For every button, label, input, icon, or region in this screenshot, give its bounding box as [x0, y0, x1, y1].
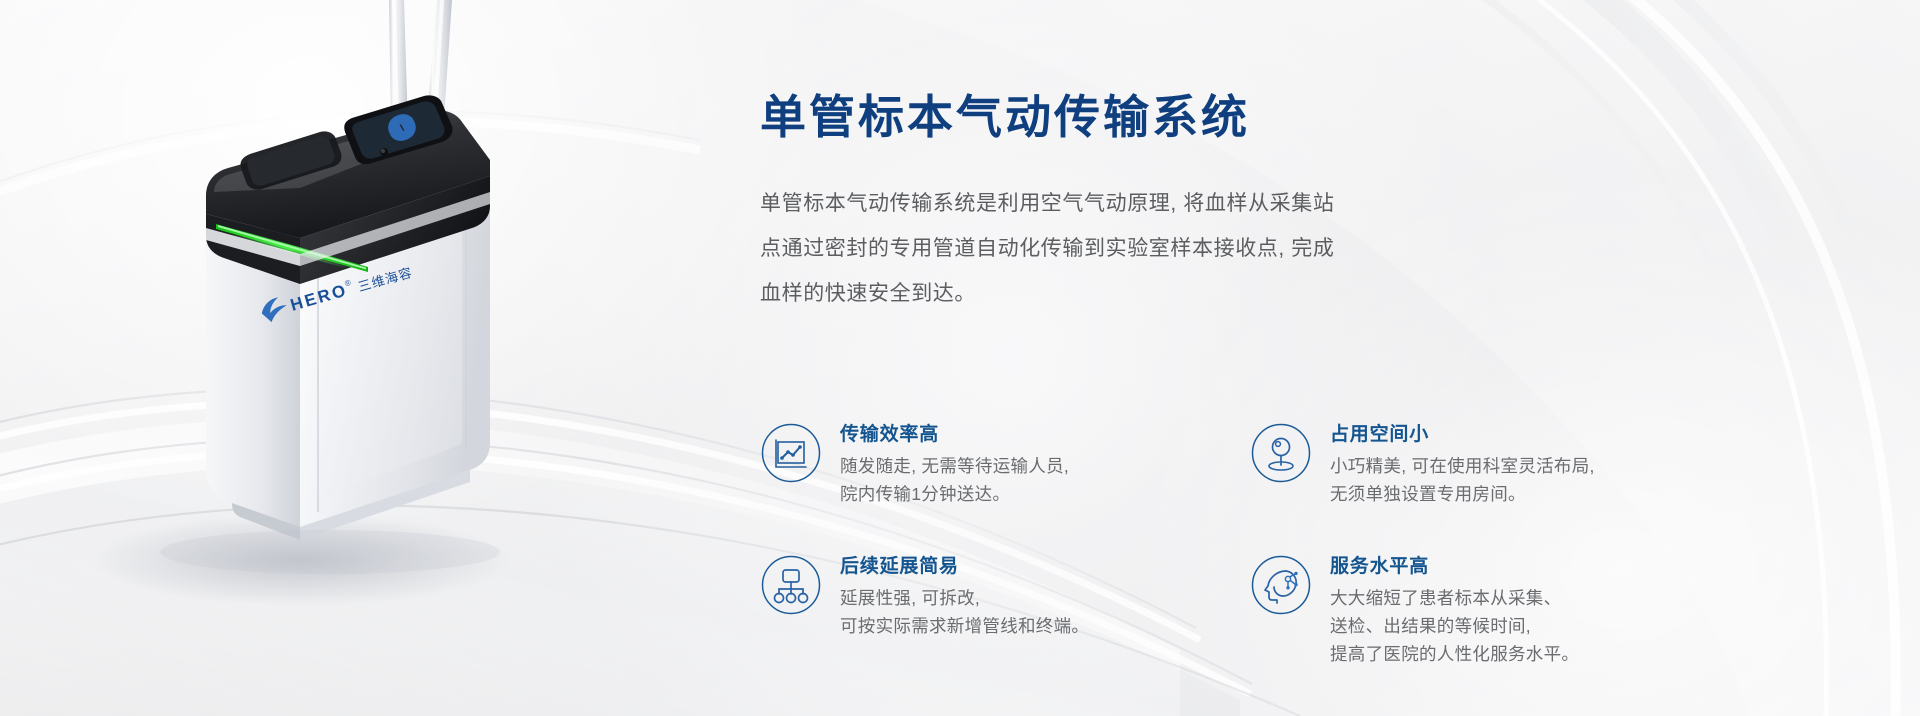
hero-copy-block: 单管标本气动传输系统 单管标本气动传输系统是利用空气气动原理, 将血样从采集站 …: [760, 92, 1760, 316]
feature-item-easy-expansion: 后续延展简易 延展性强, 可拆改, 可按实际需求新增管线和终端。: [760, 552, 1160, 640]
feature-desc-line: 大大缩短了患者标本从采集、: [1330, 584, 1579, 612]
smart-head-icon: [1250, 554, 1312, 616]
feature-item-transfer-efficiency: 传输效率高 随发随走, 无需等待运输人员, 院内传输1分钟送达。: [760, 420, 1160, 508]
product-device-illustration: HERO ® 三维海容: [0, 0, 600, 716]
feature-description: 小巧精美, 可在使用科室灵活布局, 无须单独设置专用房间。: [1330, 452, 1595, 509]
page-title: 单管标本气动传输系统: [760, 92, 1760, 143]
feature-desc-line: 送检、出结果的等候时间,: [1330, 612, 1579, 640]
description-line-3: 血样的快速安全到达。: [760, 271, 1420, 316]
feature-desc-line: 提高了医院的人性化服务水平。: [1330, 640, 1579, 668]
description-line-2: 点通过密封的专用管道自动化传输到实验室样本接收点, 完成: [760, 226, 1420, 271]
space-pin-icon: [1250, 422, 1312, 484]
feature-desc-line: 随发随走, 无需等待运输人员,: [840, 452, 1069, 480]
feature-text: 传输效率高 随发随走, 无需等待运输人员, 院内传输1分钟送达。: [840, 420, 1069, 508]
feature-text: 服务水平高 大大缩短了患者标本从采集、 送检、出结果的等候时间, 提高了医院的人…: [1330, 552, 1579, 669]
feature-item-service-level: 服务水平高 大大缩短了患者标本从采集、 送检、出结果的等候时间, 提高了医院的人…: [1250, 552, 1650, 669]
feature-desc-line: 院内传输1分钟送达。: [840, 480, 1069, 508]
feature-desc-line: 无须单独设置专用房间。: [1330, 480, 1595, 508]
feature-title: 传输效率高: [840, 421, 1069, 449]
feature-description: 随发随走, 无需等待运输人员, 院内传输1分钟送达。: [840, 452, 1069, 509]
feature-desc-line: 可按实际需求新增管线和终端。: [840, 612, 1089, 640]
feature-description: 大大缩短了患者标本从采集、 送检、出结果的等候时间, 提高了医院的人性化服务水平…: [1330, 584, 1579, 669]
feature-title: 服务水平高: [1330, 553, 1579, 581]
chart-trend-icon: [760, 422, 822, 484]
description-line-1: 单管标本气动传输系统是利用空气气动原理, 将血样从采集站: [760, 181, 1420, 226]
feature-list: 传输效率高 随发随走, 无需等待运输人员, 院内传输1分钟送达。 占用空间: [760, 420, 1640, 669]
feature-desc-line: 延展性强, 可拆改,: [840, 584, 1089, 612]
feature-title: 占用空间小: [1330, 421, 1595, 449]
feature-item-small-footprint: 占用空间小 小巧精美, 可在使用科室灵活布局, 无须单独设置专用房间。: [1250, 420, 1650, 508]
feature-text: 后续延展简易 延展性强, 可拆改, 可按实际需求新增管线和终端。: [840, 552, 1089, 640]
product-description: 单管标本气动传输系统是利用空气气动原理, 将血样从采集站 点通过密封的专用管道自…: [760, 181, 1420, 316]
feature-title: 后续延展简易: [840, 553, 1089, 581]
feature-desc-line: 小巧精美, 可在使用科室灵活布局,: [1330, 452, 1595, 480]
network-tree-icon: [760, 554, 822, 616]
feature-description: 延展性强, 可拆改, 可按实际需求新增管线和终端。: [840, 584, 1089, 641]
product-hero-banner: HERO ® 三维海容 单管标本气动传输系统 单管标本气动传输系统是利用空气气动…: [0, 0, 1920, 716]
feature-text: 占用空间小 小巧精美, 可在使用科室灵活布局, 无须单独设置专用房间。: [1330, 420, 1595, 508]
